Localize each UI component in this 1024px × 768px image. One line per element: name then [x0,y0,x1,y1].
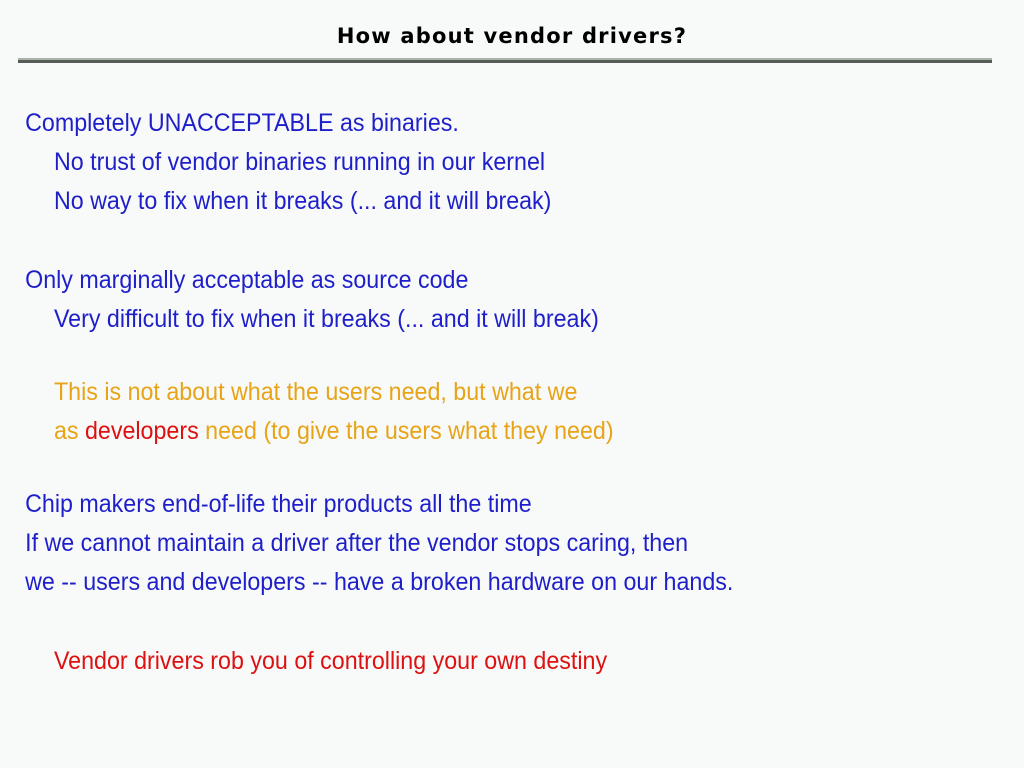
developers-note-line-1: This is not about what the users need, b… [0,373,952,412]
developers-note-line-2-suffix: need (to give the users what they need) [199,417,614,445]
spacer-4 [0,602,1024,642]
slide: How about vendor drivers? Completely UNA… [0,0,1024,768]
page-title: How about vendor drivers? [0,24,1024,48]
block-eol: Chip makers end-of-life their products a… [0,485,1024,602]
spacer-2 [0,339,1024,373]
eol-line-1: Chip makers end-of-life their products a… [0,485,952,524]
title-divider [18,58,992,63]
block-developers-note: This is not about what the users need, b… [0,373,1024,451]
eol-line-3: we -- users and developers -- have a bro… [0,563,952,602]
source-code-bullet-1: Very difficult to fix when it breaks (..… [0,300,952,339]
source-code-heading: Only marginally acceptable as source cod… [0,261,952,300]
slide-body: Completely UNACCEPTABLE as binaries. No … [0,104,1024,681]
developers-note-line-2-prefix: as [54,417,85,445]
block-conclusion: Vendor drivers rob you of controlling yo… [0,642,1024,681]
binaries-heading: Completely UNACCEPTABLE as binaries. [0,104,952,143]
developers-highlight: developers [85,417,199,445]
binaries-bullet-1: No trust of vendor binaries running in o… [0,143,952,182]
eol-line-2: If we cannot maintain a driver after the… [0,524,952,563]
binaries-bullet-2: No way to fix when it breaks (... and it… [0,182,952,221]
spacer-1 [0,221,1024,261]
block-source-code: Only marginally acceptable as source cod… [0,261,1024,339]
spacer-3 [0,451,1024,485]
developers-note-line-2: as developers need (to give the users wh… [0,412,952,451]
block-binaries: Completely UNACCEPTABLE as binaries. No … [0,104,1024,221]
conclusion-line-1: Vendor drivers rob you of controlling yo… [0,642,952,681]
